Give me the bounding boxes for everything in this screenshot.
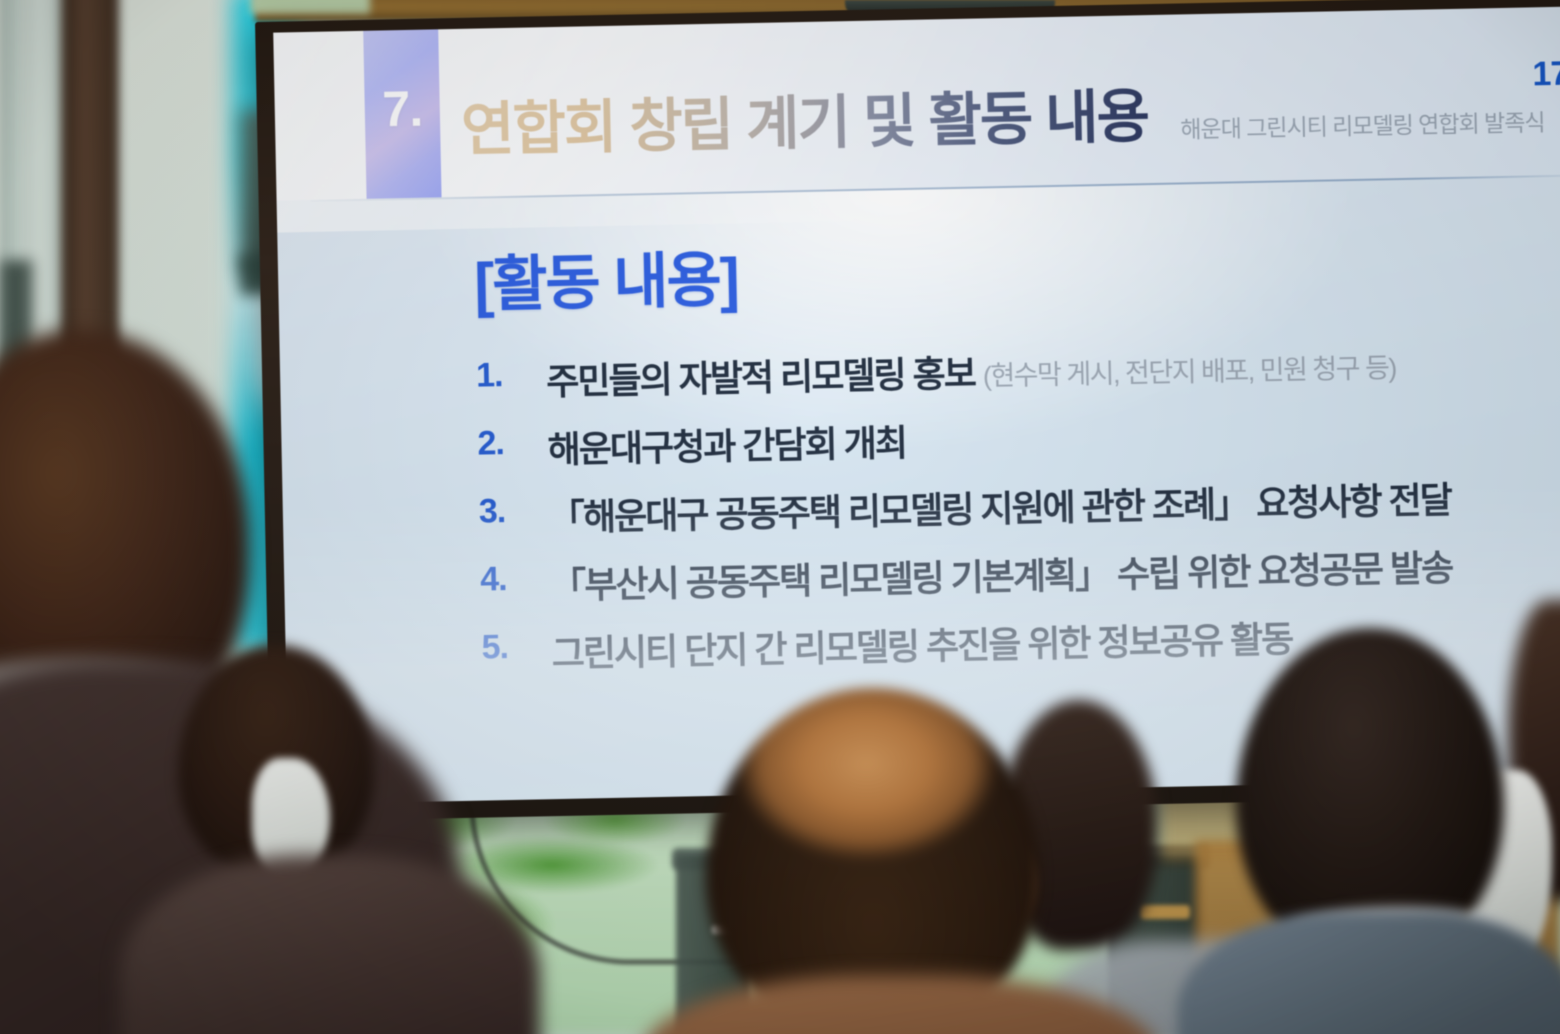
list-item-main: 주민들의 자발적 리모델링 홍보 xyxy=(546,352,983,402)
screenshot-stage: 7. 연합회 창립 계기 및 활동 내용 해운대 그린시티 리모델링 연합회 발… xyxy=(0,0,1560,1034)
stand-post-left xyxy=(676,855,750,1034)
presentation-slide: 7. 연합회 창립 계기 및 활동 내용 해운대 그린시티 리모델링 연합회 발… xyxy=(273,7,1560,805)
monitor-screen: 7. 연합회 창립 계기 및 활동 내용 해운대 그린시티 리모델링 연합회 발… xyxy=(273,7,1560,805)
activity-list: 1. 주민들의 자발적 리모델링 홍보 (현수막 게시, 전단지 배포, 민원 … xyxy=(476,333,1553,694)
stand-post-handle xyxy=(712,925,748,934)
list-item-number: 4. xyxy=(480,560,533,600)
brass-fitting xyxy=(1140,905,1190,919)
slide-subtitle: 해운대 그린시티 리모델링 연합회 발족식 xyxy=(1180,103,1545,144)
pillar-shadow xyxy=(0,260,32,780)
list-item-number: 3. xyxy=(478,492,531,532)
presentation-monitor: 7. 연합회 창립 계기 및 활동 내용 해운대 그린시티 리모델링 연합회 발… xyxy=(255,0,1560,822)
list-item-text: 주민들의 자발적 리모델링 홍보 (현수막 게시, 전단지 배포, 민원 청구 … xyxy=(546,336,1397,405)
section-heading: [활동 내용] xyxy=(473,231,738,323)
list-item-text: 해운대구청과 간담회 개최 xyxy=(547,414,906,473)
slide-number: 7. xyxy=(364,79,440,138)
list-item-number: 1. xyxy=(476,356,529,396)
list-item-note: (현수막 게시, 전단지 배포, 민원 청구 등) xyxy=(983,353,1397,391)
stand-post-right xyxy=(1108,855,1204,1034)
wood-panel-lower xyxy=(1195,840,1560,1034)
slide-title: 연합회 창립 계기 및 활동 내용 xyxy=(460,69,1148,167)
wooden-pillar xyxy=(61,0,119,990)
slide-header: 7. 연합회 창립 계기 및 활동 내용 해운대 그린시티 리모델링 연합회 발… xyxy=(273,7,1560,201)
list-item-number: 5. xyxy=(481,628,534,668)
ceiling-strip-green xyxy=(250,0,370,14)
slide-page-number: 17 xyxy=(1532,55,1560,95)
list-item-number: 2. xyxy=(477,424,530,464)
slide-number-block: 7. xyxy=(363,29,441,198)
